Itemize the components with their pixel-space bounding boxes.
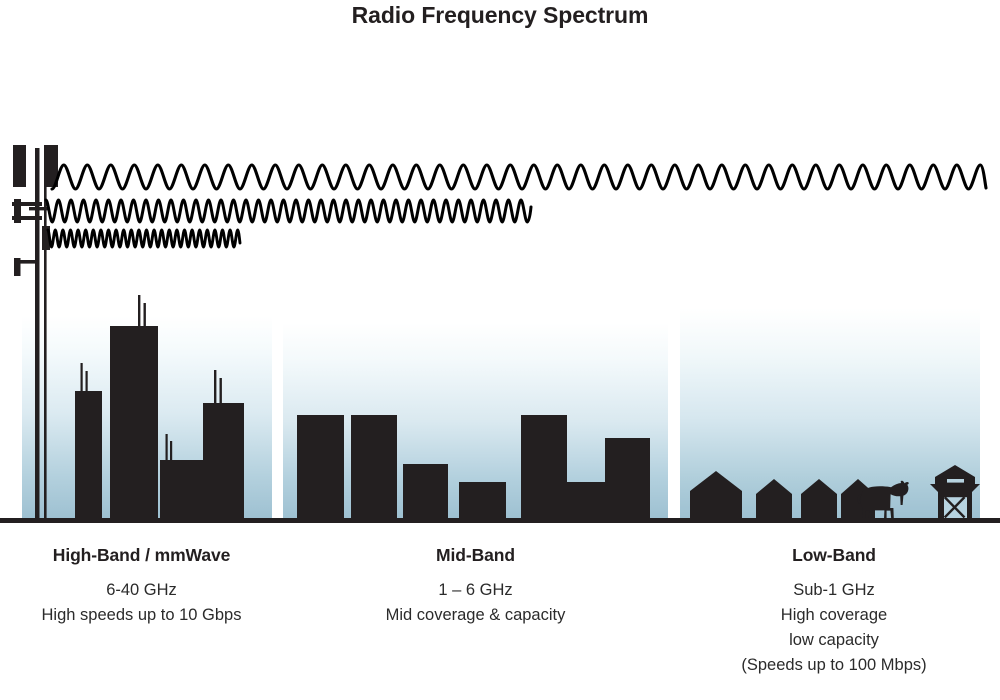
band-speed-low-band: (Speeds up to 100 Mbps): [668, 653, 1000, 678]
band-description-high-band: High speeds up to 10 Gbps: [0, 603, 283, 628]
infographic-root: Radio Frequency Spectrum: [0, 0, 1000, 700]
band-title-low-band: Low-Band: [668, 545, 1000, 566]
band-detail-low-band: Sub-1 GHz High coverage low capacity (Sp…: [668, 578, 1000, 678]
band-detail-mid-band: 1 – 6 GHz Mid coverage & capacity: [283, 578, 668, 628]
wave-low-band: [52, 165, 986, 189]
band-title-high-band: High-Band / mmWave: [0, 545, 283, 566]
ground-line: [0, 518, 1000, 523]
band-frequency-mid-band: 1 – 6 GHz: [283, 578, 668, 603]
band-label-low-band: Low-Band Sub-1 GHz High coverage low cap…: [668, 545, 1000, 678]
band-frequency-low-band: Sub-1 GHz: [668, 578, 1000, 603]
band-detail-high-band: 6-40 GHz High speeds up to 10 Gbps: [0, 578, 283, 628]
band-description-mid-band: Mid coverage & capacity: [283, 603, 668, 628]
band-labels: High-Band / mmWave 6-40 GHz High speeds …: [0, 545, 1000, 700]
band-label-mid-band: Mid-Band 1 – 6 GHz Mid coverage & capaci…: [283, 545, 668, 628]
wave-mid-band: [46, 200, 531, 222]
wave-high-band: [48, 230, 240, 247]
band-label-high-band: High-Band / mmWave 6-40 GHz High speeds …: [0, 545, 283, 628]
band-title-mid-band: Mid-Band: [283, 545, 668, 566]
band-coverage-low-band: High coverage: [668, 603, 1000, 628]
band-frequency-high-band: 6-40 GHz: [0, 578, 283, 603]
band-capacity-low-band: low capacity: [668, 628, 1000, 653]
